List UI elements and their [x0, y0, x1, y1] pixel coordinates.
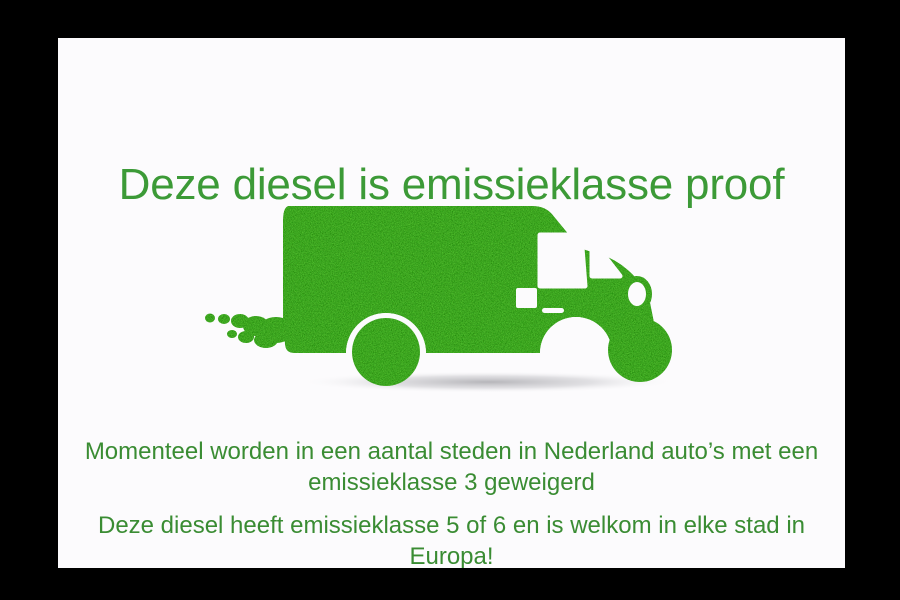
- exhaust-plume: [205, 314, 294, 349]
- advertisement-panel: Deze diesel is emissieklasse proof: [58, 38, 845, 568]
- cargo-body: [283, 206, 672, 386]
- poster-frame: Deze diesel is emissieklasse proof: [0, 0, 900, 600]
- van-svg: [188, 190, 778, 405]
- green-van-illustration: [188, 190, 778, 405]
- body-paragraph-2: Deze diesel heeft emissieklasse 5 of 6 e…: [58, 510, 845, 568]
- door-handle: [542, 308, 564, 313]
- body-paragraph-1: Momenteel worden in een aantal steden in…: [58, 436, 845, 498]
